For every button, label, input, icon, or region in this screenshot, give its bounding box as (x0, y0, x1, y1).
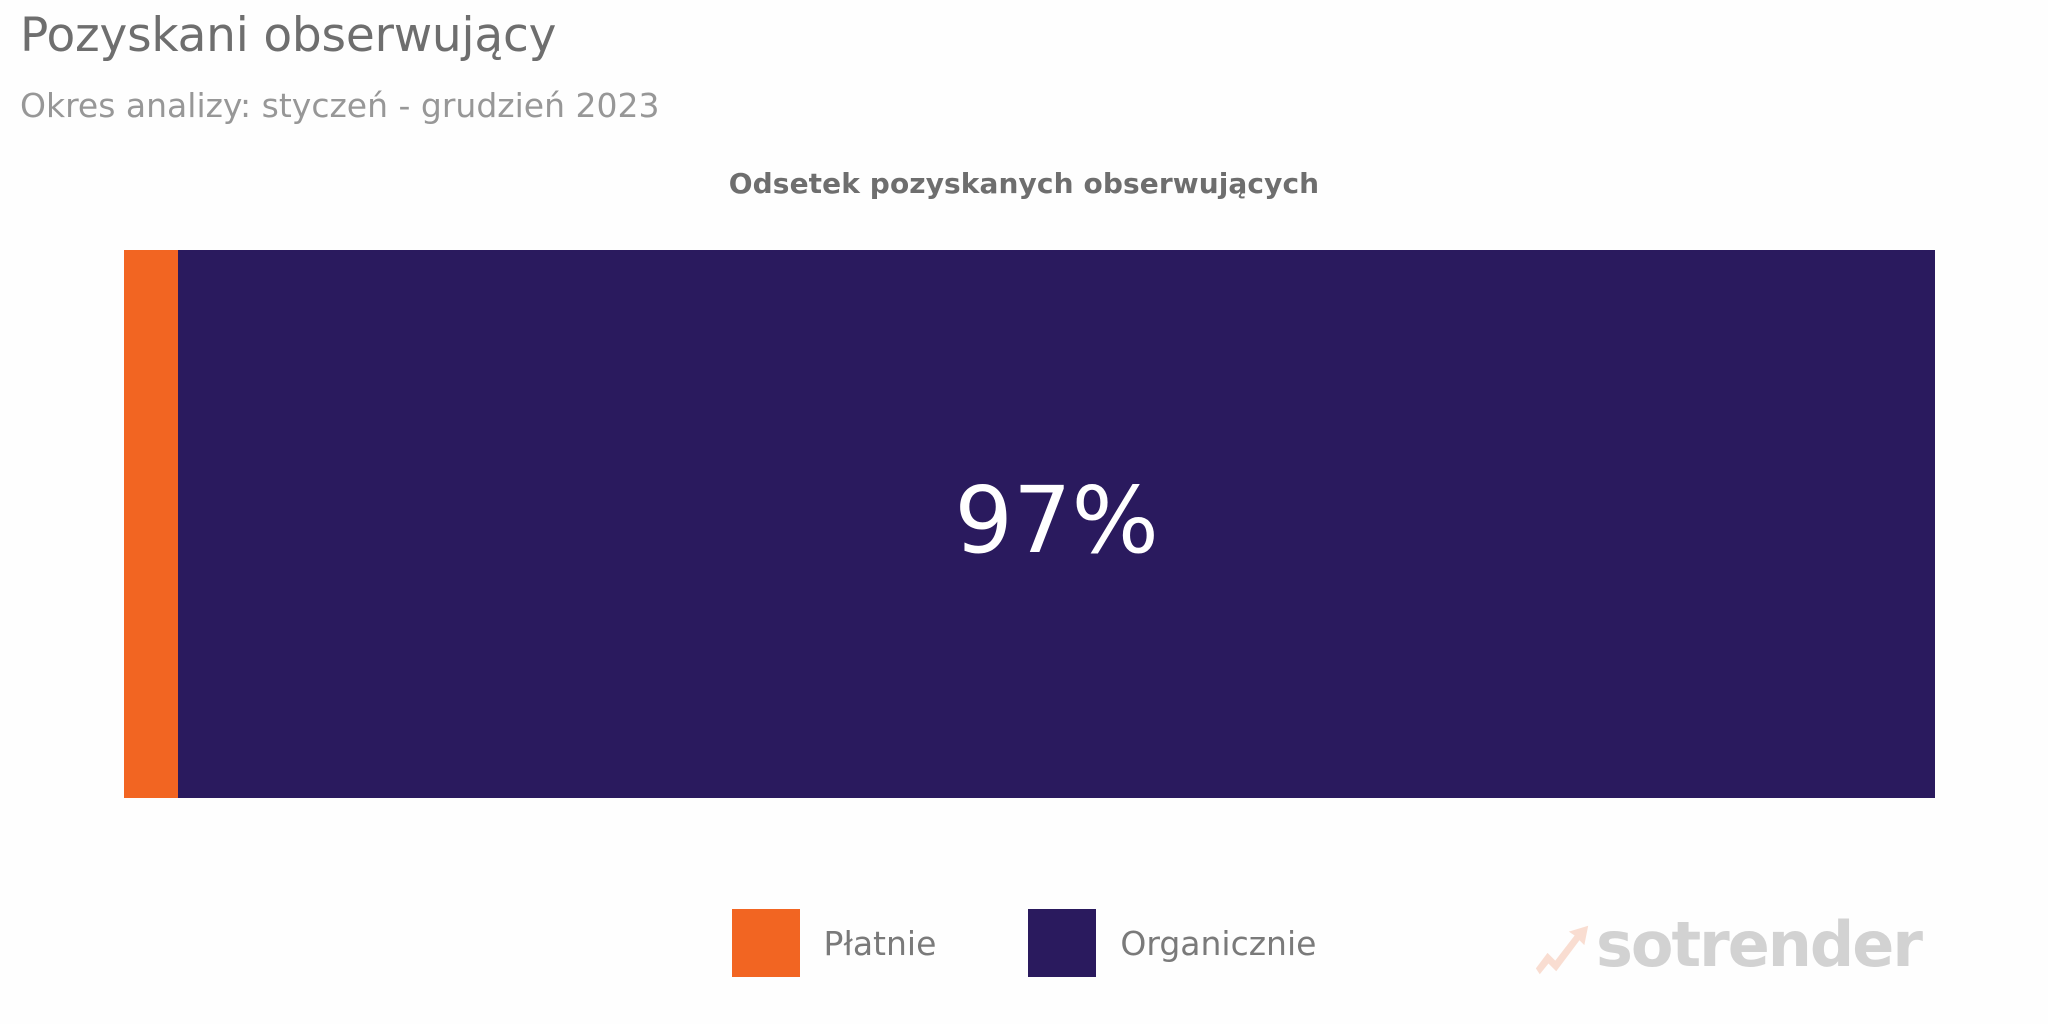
legend-label-organic: Organicznie (1120, 924, 1316, 963)
brand-wordmark: sotrender (1596, 914, 1921, 976)
legend-swatch-paid-icon (732, 909, 800, 977)
legend-item-organic[interactable]: Organicznie (1028, 909, 1316, 977)
trend-arrow-icon (1532, 918, 1594, 980)
bar-segment-paid[interactable] (124, 250, 178, 798)
chart-container: Odsetek pozyskanych obserwujących 97% Pł… (0, 0, 2048, 1024)
legend-label-paid: Płatnie (824, 924, 937, 963)
brand-logo: sotrender (1532, 905, 1942, 985)
stacked-bar-plot: 97% (124, 250, 1935, 798)
bar-segment-organic-value: 97% (954, 475, 1158, 567)
chart-title: Odsetek pozyskanych obserwujących (0, 167, 2048, 200)
bar-segment-organic[interactable]: 97% (178, 250, 1935, 798)
legend-swatch-organic-icon (1028, 909, 1096, 977)
legend-item-paid[interactable]: Płatnie (732, 909, 937, 977)
